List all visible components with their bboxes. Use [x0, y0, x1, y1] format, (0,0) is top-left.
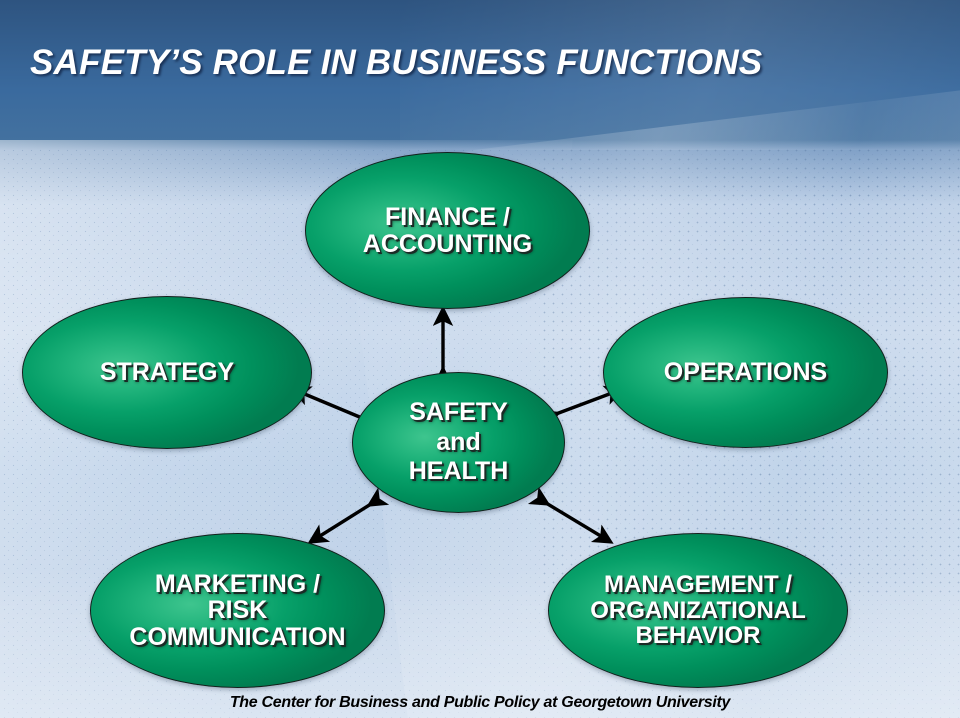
slide-canvas: SAFETY’S ROLE IN BUSINESS FUNCTIONS FINA… [0, 0, 960, 718]
slide-footer: The Center for Business and Public Polic… [0, 694, 960, 712]
diagram-node-label: OPERATIONS [662, 359, 829, 386]
diagram-node-safety-and-health[interactable]: SAFETY and HEALTH [352, 372, 565, 513]
diagram-node-label: FINANCE / ACCOUNTING [361, 204, 534, 257]
diagram-node-label: MARKETING / RISK COMMUNICATION [91, 571, 384, 651]
diagram-node-management-organizational-behavior[interactable]: MANAGEMENT / ORGANIZATIONAL BEHAVIOR [548, 533, 848, 688]
diagram-node-label: SAFETY and HEALTH [407, 398, 511, 487]
diagram-node-finance-accounting[interactable]: FINANCE / ACCOUNTING [305, 152, 590, 309]
diagram-node-strategy[interactable]: STRATEGY [22, 296, 312, 449]
diagram-node-label: STRATEGY [98, 359, 236, 386]
page-title: SAFETY’S ROLE IN BUSINESS FUNCTIONS [30, 43, 762, 83]
diagram-node-label: MANAGEMENT / ORGANIZATIONAL BEHAVIOR [549, 572, 847, 648]
diagram-node-marketing-risk-communication[interactable]: MARKETING / RISK COMMUNICATION [90, 533, 385, 688]
diagram-node-operations[interactable]: OPERATIONS [603, 297, 888, 448]
